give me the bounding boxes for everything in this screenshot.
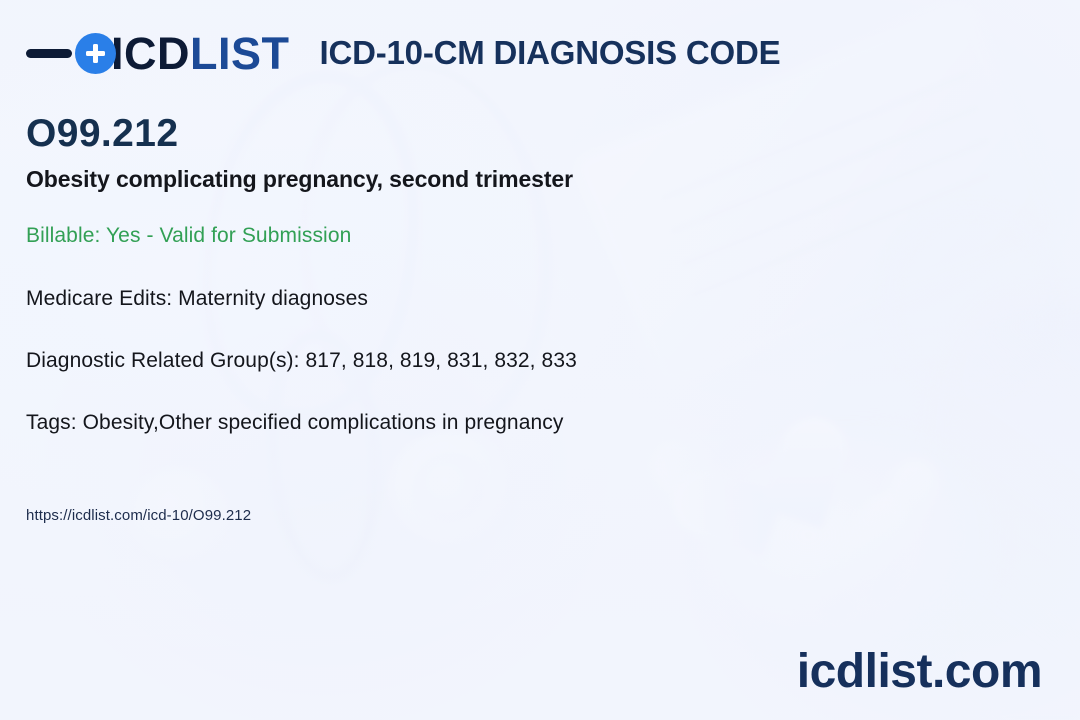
diagnosis-description: Obesity complicating pregnancy, second t… — [26, 166, 573, 193]
logo-wordmark-icd: ICD — [111, 28, 190, 79]
source-url[interactable]: https://icdlist.com/icd-10/O99.212 — [26, 507, 251, 524]
icdlist-logo[interactable]: ICDLIST — [26, 24, 290, 82]
diagnosis-code: O99.212 — [26, 113, 178, 156]
logo-dash-icon — [26, 49, 72, 58]
header: ICDLIST ICD-10-CM DIAGNOSIS CODE — [26, 24, 780, 82]
card-content: ICDLIST ICD-10-CM DIAGNOSIS CODE O99.212… — [0, 0, 1080, 720]
medicare-edits: Medicare Edits: Maternity diagnoses — [26, 287, 368, 311]
billable-status: Billable: Yes - Valid for Submission — [26, 224, 351, 248]
footer-brand: icdlist.com — [797, 648, 1042, 696]
icd-code-card: ICDLIST ICD-10-CM DIAGNOSIS CODE O99.212… — [0, 0, 1080, 720]
tags: Tags: Obesity,Other specified complicati… — [26, 411, 563, 435]
logo-wordmark: ICDLIST — [111, 31, 290, 76]
page-title: ICD-10-CM DIAGNOSIS CODE — [320, 34, 781, 72]
logo-wordmark-list: LIST — [190, 28, 290, 79]
logo-plus-icon — [75, 33, 116, 74]
diagnostic-related-groups: Diagnostic Related Group(s): 817, 818, 8… — [26, 349, 577, 373]
